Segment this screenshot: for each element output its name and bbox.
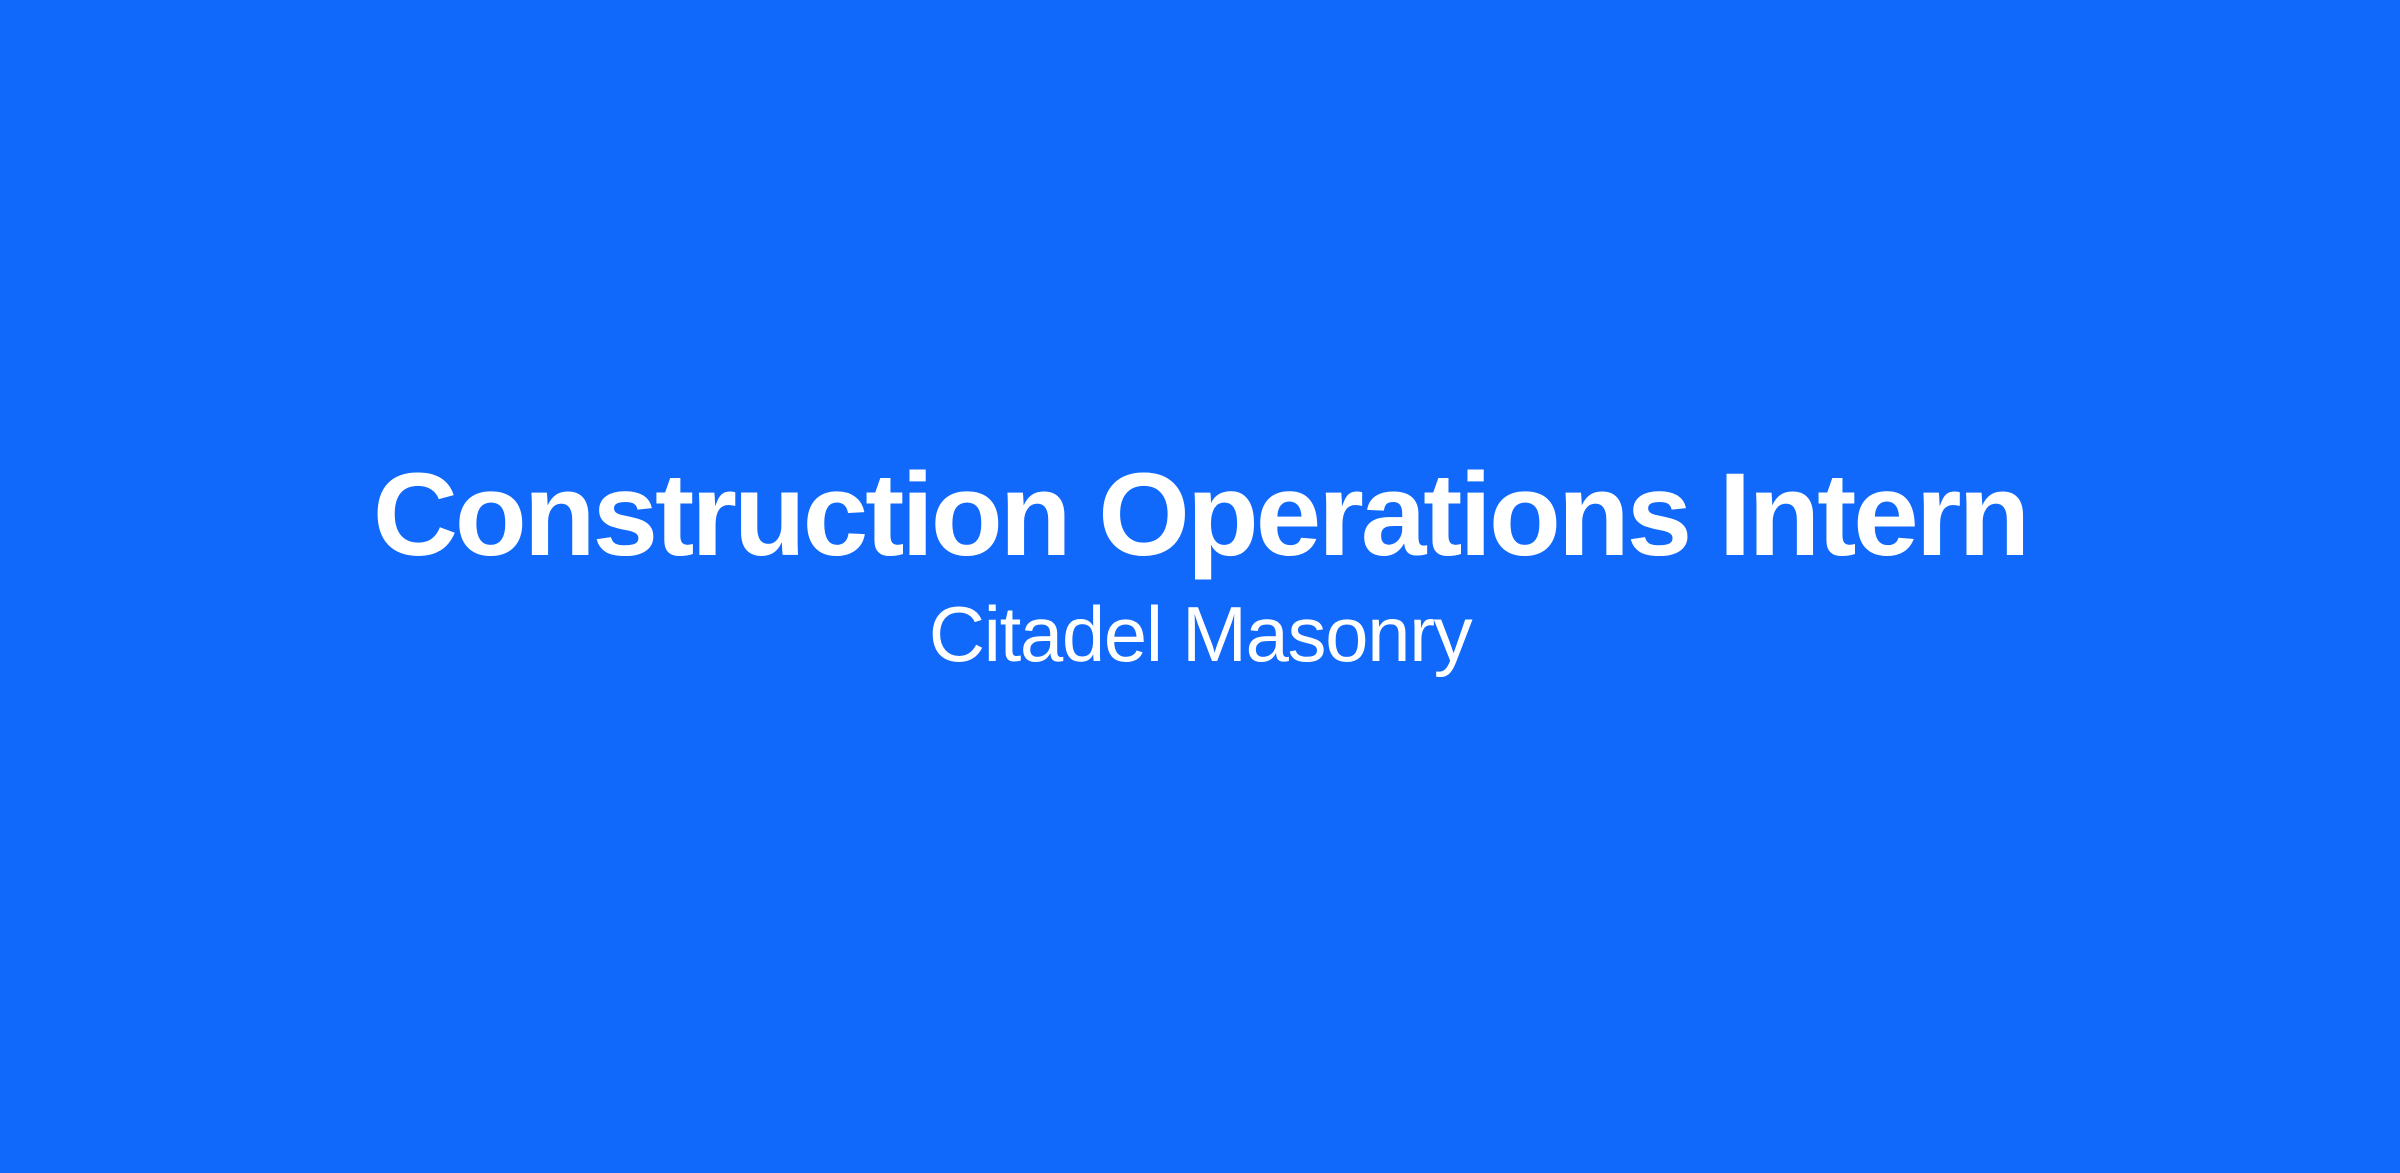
hero-text-block: Construction Operations Intern Citadel M… bbox=[0, 453, 2400, 678]
job-title: Construction Operations Intern bbox=[293, 453, 2107, 578]
company-name: Citadel Masonry bbox=[849, 592, 1552, 678]
job-title-card: Construction Operations Intern Citadel M… bbox=[0, 0, 2400, 1173]
